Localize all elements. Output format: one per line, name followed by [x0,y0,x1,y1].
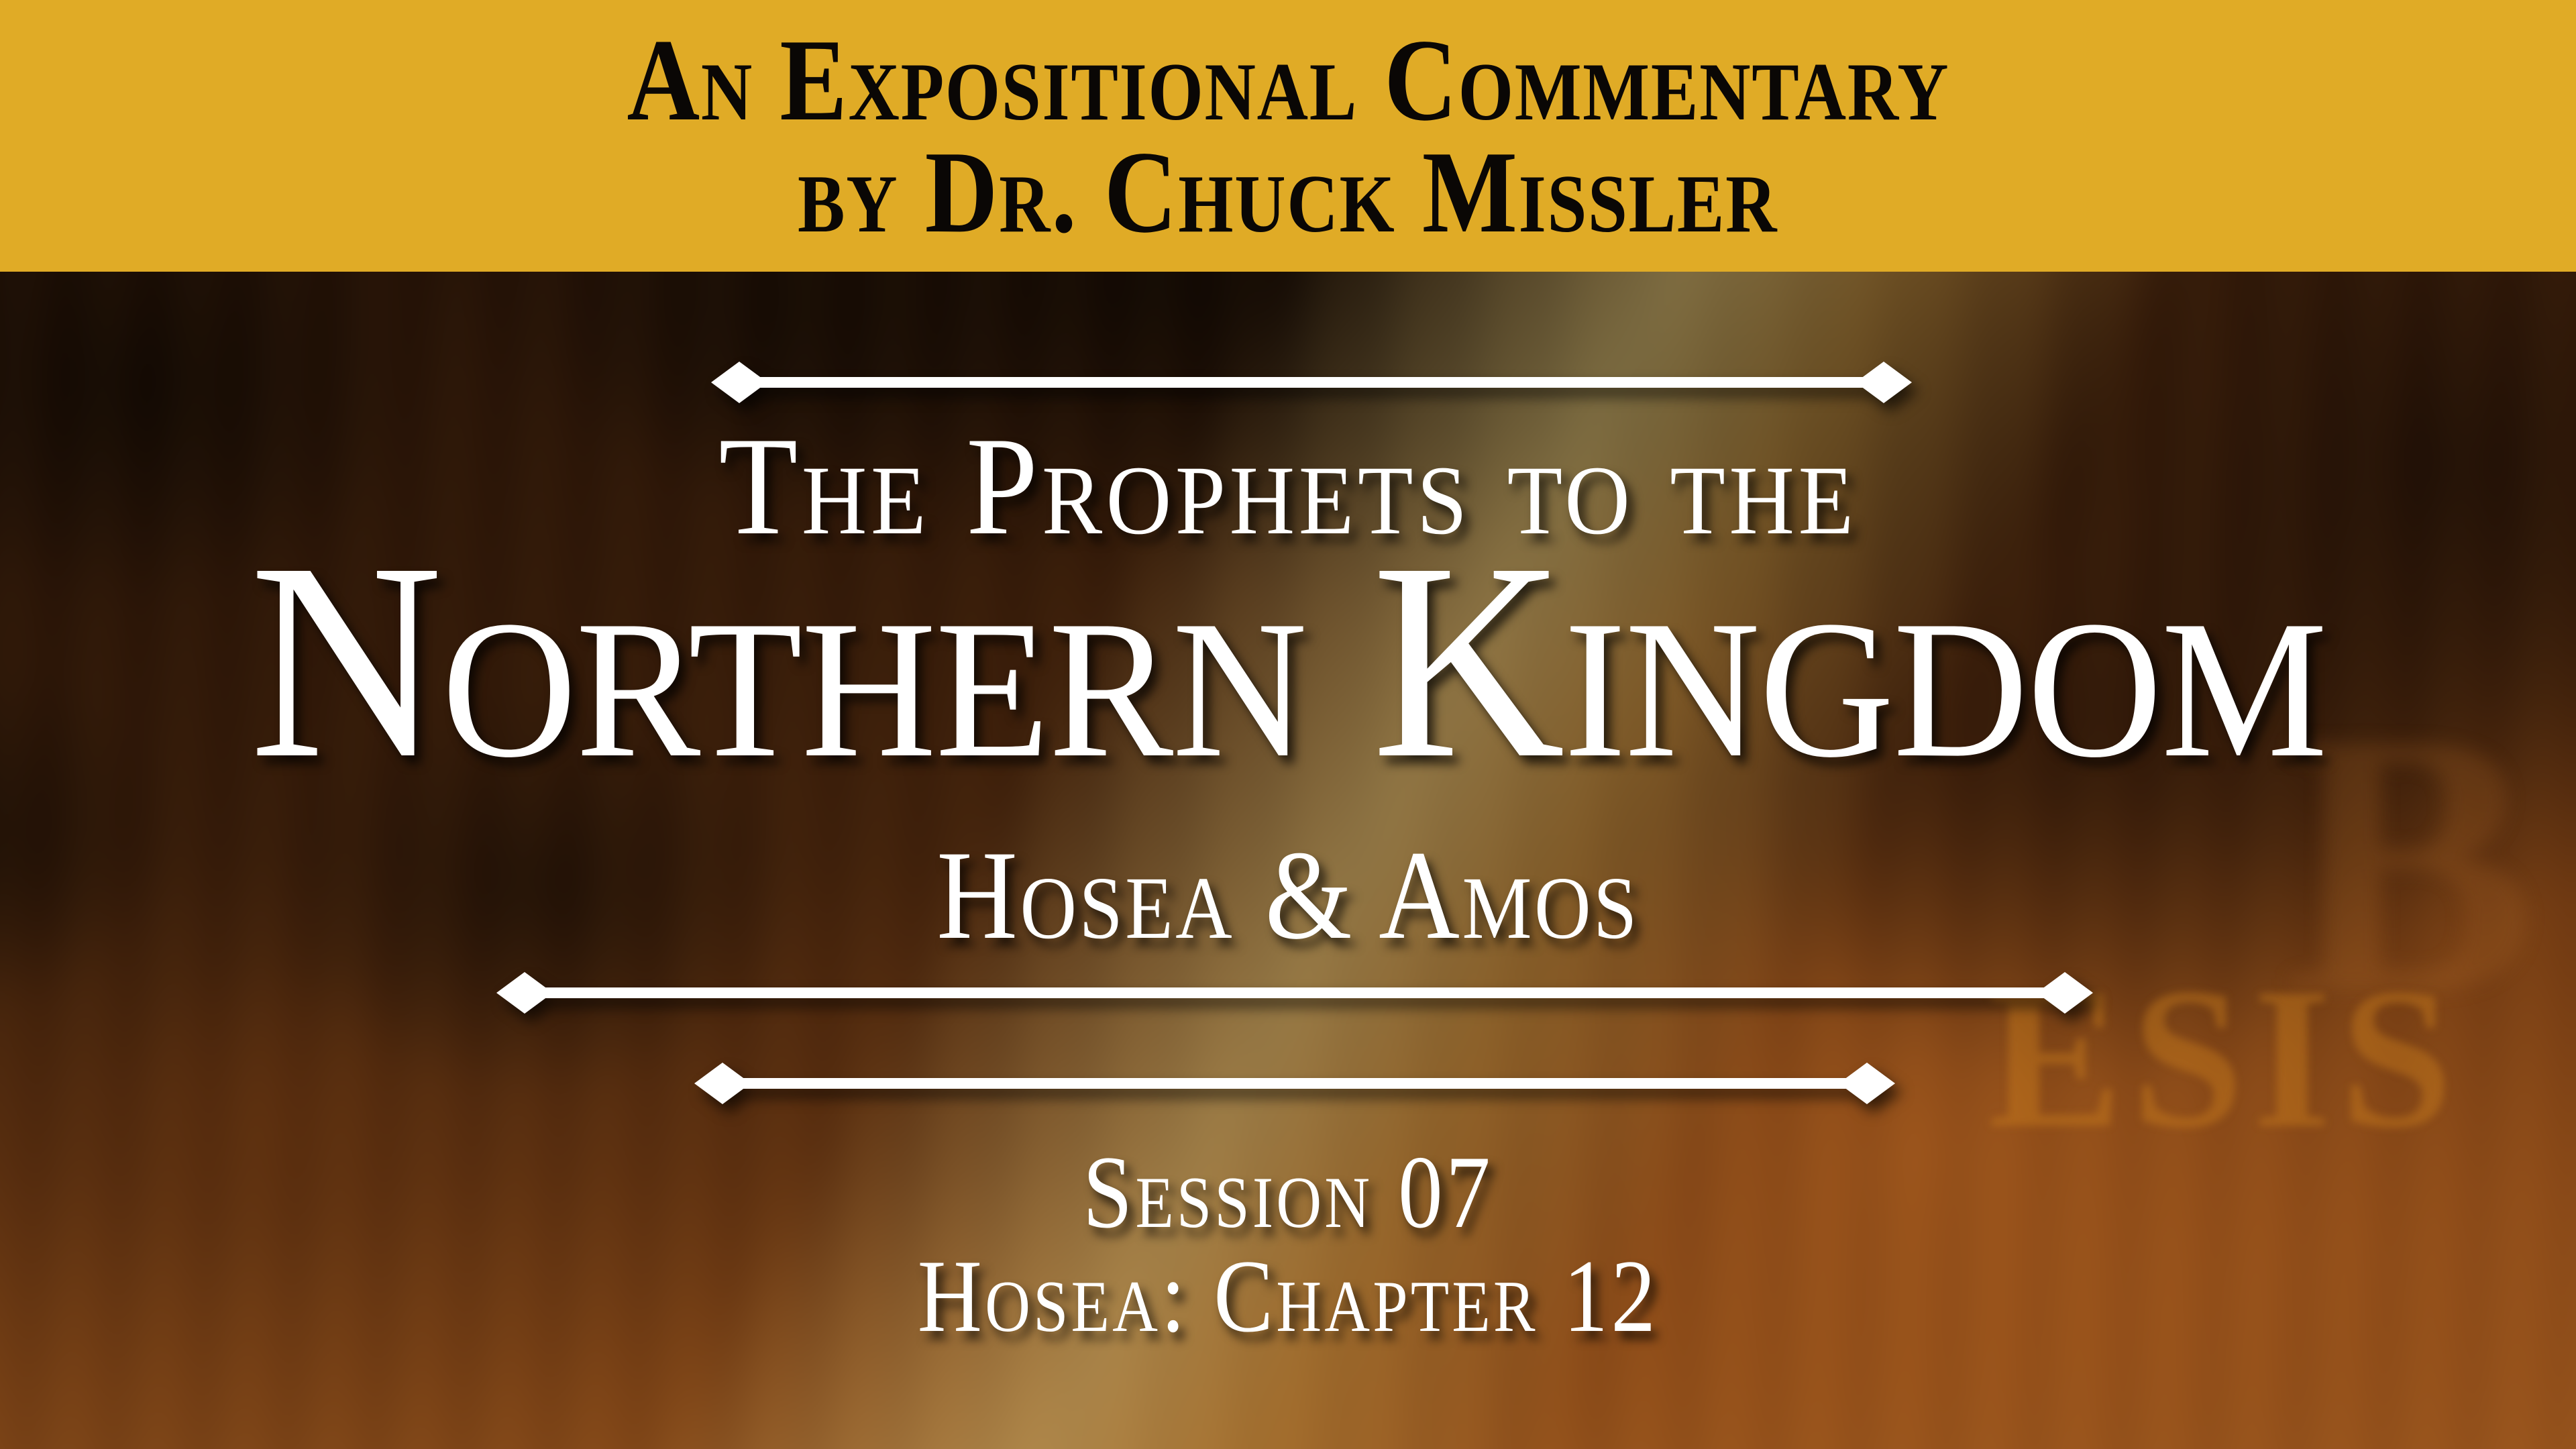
title-content: The Prophets to the Northern Kingdom Hos… [0,272,2576,1449]
banner-line-author: by Dr. Chuck Missler [798,136,1778,248]
title-books: Hosea & Amos [154,832,2421,959]
divider-bottom-ornament [694,1060,1895,1107]
banner-line-primary: An Expositional Commentary [627,24,1949,136]
commentary-banner: An Expositional Commentary by Dr. Chuck … [0,0,2576,272]
divider-top-ornament [711,359,1912,406]
session-number: Session 07 [180,1140,2396,1244]
session-chapter: Hosea: Chapter 12 [180,1244,2396,1348]
divider-middle-ornament [496,969,2093,1016]
title-main: Northern Kingdom [64,520,2512,802]
title-slide: B ESIS The Creation the other An Exposit… [0,0,2576,1449]
